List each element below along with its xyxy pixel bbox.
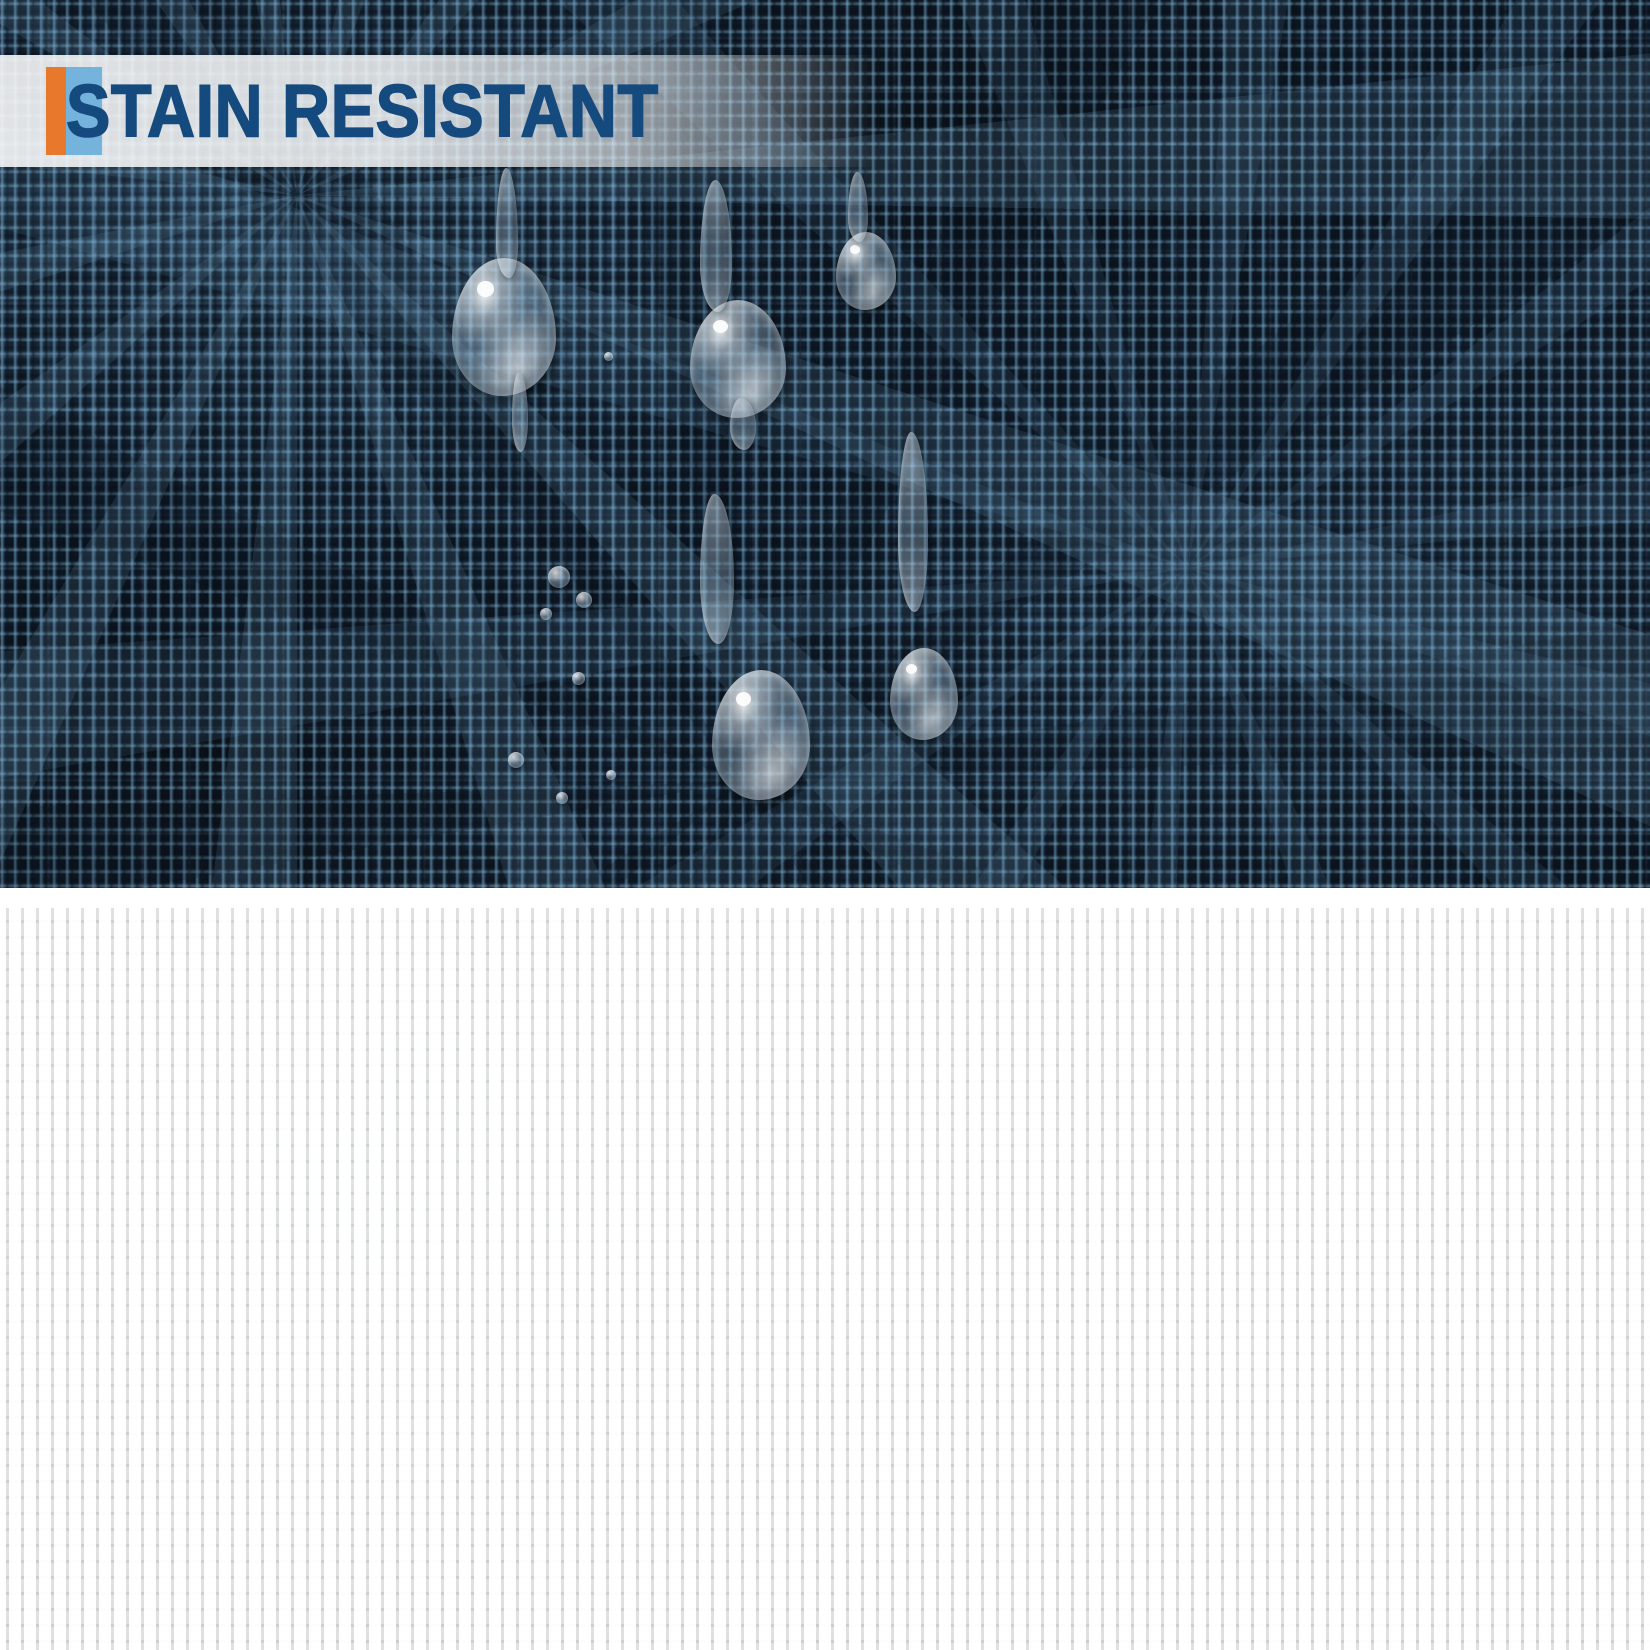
small-water-bead [556, 792, 568, 804]
construction-diagram-panel: High Density Surface Polyester Fiber Sof… [0, 908, 1650, 1650]
small-water-bead [540, 608, 552, 620]
accent-bar-orange [46, 67, 66, 155]
small-water-bead [572, 672, 585, 685]
page-title-text: STAIN RESISTANT [66, 69, 659, 154]
small-water-bead [604, 352, 613, 361]
page-title: STAIN RESISTANT [66, 69, 724, 154]
header-banner: STAIN RESISTANT [0, 55, 880, 167]
small-water-bead [548, 566, 570, 588]
small-water-bead [606, 770, 616, 780]
small-water-bead [508, 752, 524, 768]
white-canvas-texture [0, 908, 1650, 1650]
infographic-page: STAIN RESISTANT High Density Surface Pol… [0, 0, 1650, 1650]
panel-divider [0, 888, 1650, 908]
small-water-bead [576, 592, 592, 608]
hero-photo-panel: STAIN RESISTANT [0, 0, 1650, 888]
